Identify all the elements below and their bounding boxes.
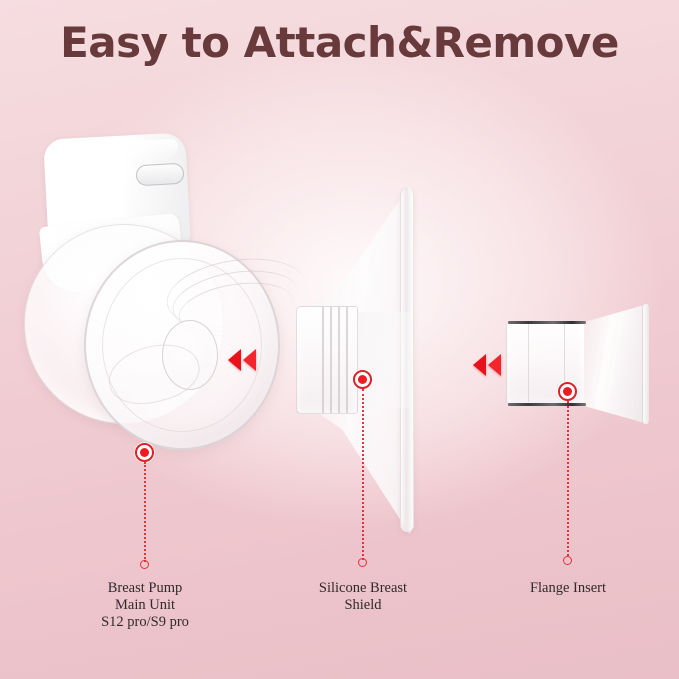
double-chevron-left-icon-1 (228, 349, 256, 371)
product-silicone-breast-shield (296, 186, 426, 534)
transparent-collection-cup (84, 240, 280, 450)
chevron-left-icon (243, 349, 256, 371)
callout-endpoint-icon (140, 560, 149, 569)
shield-threaded-neck (296, 306, 358, 414)
double-chevron-left-icon-2 (473, 354, 501, 376)
callout-label-silicone-breast-shield: Silicone Breast Shield (273, 580, 453, 614)
product-breast-pump-main-unit (18, 128, 280, 478)
callout-marker-icon (558, 382, 577, 401)
callout-label-breast-pump-main-unit: Breast Pump Main Unit S12 pro/S9 pro (55, 580, 235, 631)
callout-leader-line (567, 401, 569, 556)
product-flange-insert (506, 312, 656, 440)
insert-rim-bottom (508, 403, 586, 406)
callout-marker-icon (135, 443, 154, 462)
shield-thread-2 (330, 307, 332, 413)
chevron-left-icon (228, 349, 241, 371)
insert-tube-line-1 (528, 324, 529, 402)
insert-rim-top (508, 321, 586, 324)
callout-leader-line (144, 462, 146, 562)
shield-thread-4 (346, 307, 348, 413)
callout-marker-icon (353, 370, 372, 389)
infographic-canvas: Easy to Attach&Remove (0, 0, 679, 679)
power-button[interactable] (135, 163, 184, 186)
chevron-left-icon (488, 354, 501, 376)
callout-endpoint-icon (563, 556, 572, 565)
insert-cone-rim (642, 304, 649, 424)
callout-label-flange-insert: Flange Insert (478, 580, 658, 597)
callout-endpoint-icon (358, 558, 367, 567)
header-banner: Easy to Attach&Remove (0, 0, 679, 84)
insert-cone (580, 304, 648, 424)
page-title: Easy to Attach&Remove (60, 18, 619, 67)
chevron-left-icon (473, 354, 486, 376)
callout-leader-line (362, 389, 364, 560)
shield-thread-3 (338, 307, 340, 413)
shield-thread-1 (322, 307, 324, 413)
